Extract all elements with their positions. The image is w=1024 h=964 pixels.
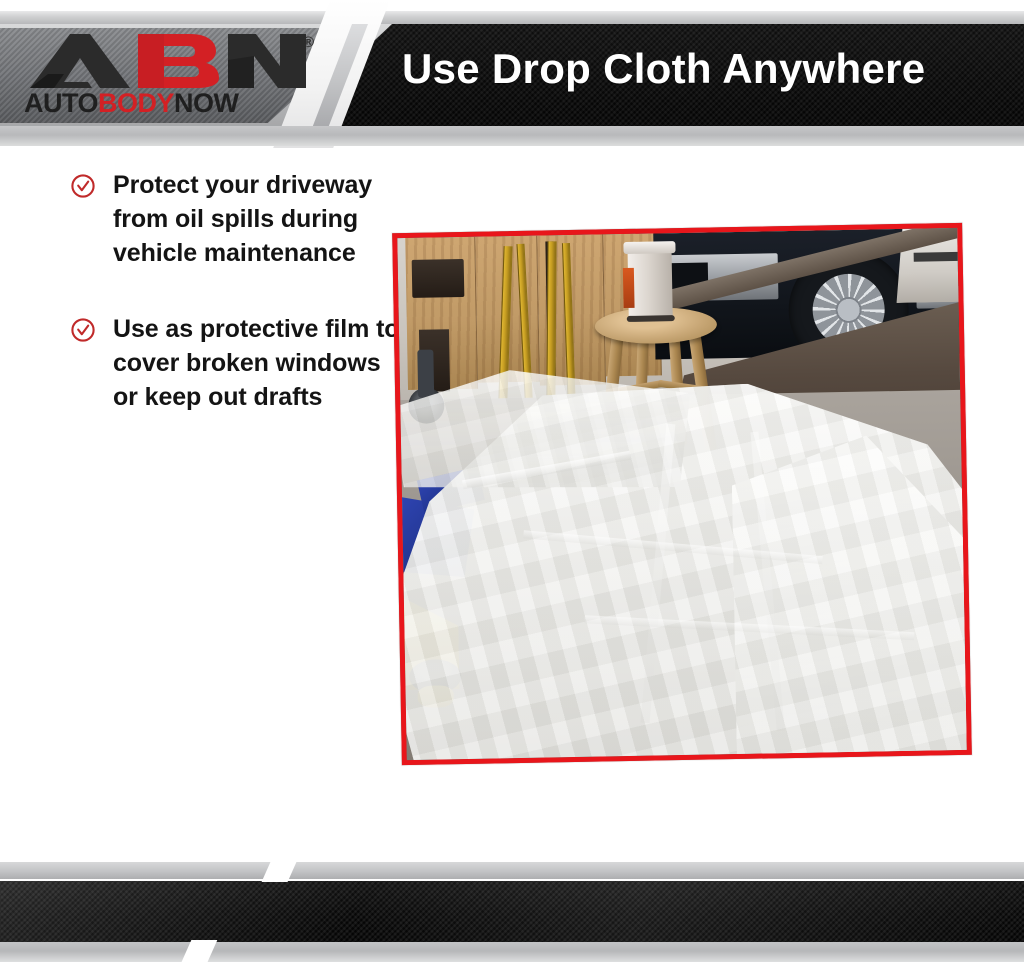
footer-gloss-overlay bbox=[0, 881, 1024, 942]
header-silver-bottom-stripe bbox=[0, 126, 1024, 146]
header-silver-top-stripe bbox=[0, 11, 1024, 25]
footer-banner bbox=[0, 862, 1024, 964]
feature-item: Use as protective film to cover broken w… bbox=[70, 312, 410, 414]
footer-silver-top-stripe bbox=[0, 862, 1024, 879]
abn-logo-mark bbox=[18, 30, 308, 92]
infographic-page: ® AUTOBODYNOW Use Drop Cloth Anywhere Pr… bbox=[0, 0, 1024, 964]
check-circle-icon bbox=[70, 173, 96, 199]
abn-logo[interactable]: ® AUTOBODYNOW bbox=[18, 30, 308, 122]
product-photo bbox=[397, 228, 966, 760]
photo-jack-post bbox=[417, 350, 434, 398]
abn-wordmark: AUTOBODYNOW bbox=[24, 90, 239, 117]
wordmark-body: BODY bbox=[98, 88, 174, 118]
wordmark-auto: AUTO bbox=[24, 88, 98, 118]
photo-wall-opening bbox=[412, 259, 465, 298]
header-banner: ® AUTOBODYNOW Use Drop Cloth Anywhere bbox=[0, 0, 1024, 148]
feature-text: Protect your driveway from oil spills du… bbox=[113, 168, 410, 270]
photo-paint-can-label bbox=[623, 268, 635, 308]
page-title: Use Drop Cloth Anywhere bbox=[402, 48, 1012, 90]
feature-list: Protect your driveway from oil spills du… bbox=[70, 168, 410, 456]
check-circle-icon bbox=[70, 317, 96, 343]
wordmark-now: NOW bbox=[174, 88, 238, 118]
photo-skidsteer-detail bbox=[914, 252, 967, 262]
product-photo-frame[interactable] bbox=[392, 223, 972, 765]
photo-paint-can-rim bbox=[627, 315, 675, 322]
photo-paint-can bbox=[627, 247, 672, 320]
registered-trademark-symbol: ® bbox=[303, 34, 314, 51]
photo-paint-can-lid bbox=[623, 241, 675, 254]
feature-text: Use as protective film to cover broken w… bbox=[113, 312, 410, 414]
footer-silver-bottom-stripe bbox=[0, 942, 1024, 962]
feature-item: Protect your driveway from oil spills du… bbox=[70, 168, 410, 270]
